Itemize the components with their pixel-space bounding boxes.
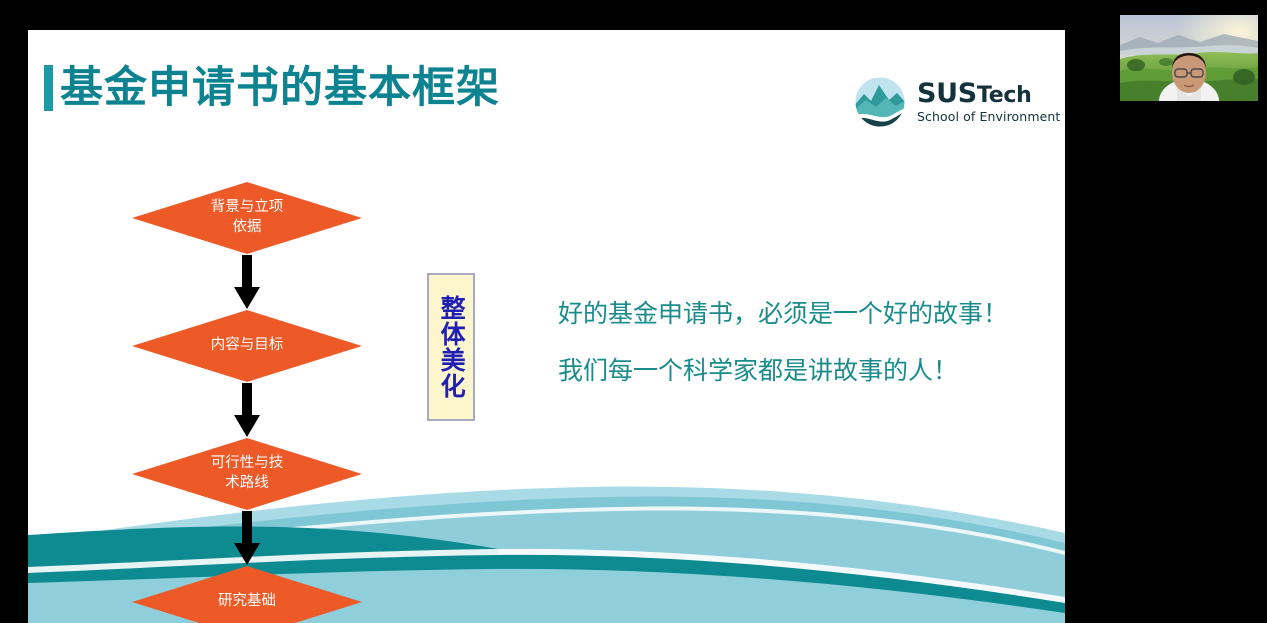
sustech-logo: SUSTech School of Environment — [854, 76, 1060, 128]
down-arrow-icon — [234, 511, 260, 565]
flow-node-research-basis[interactable]: 研究基础 — [132, 566, 362, 623]
logo-name: SUSTech — [917, 80, 1060, 108]
flow-node-content[interactable]: 内容与目标 — [132, 310, 362, 382]
flow-node-label: 背景与立项 依据 — [132, 182, 362, 254]
presenter-video-frame — [1120, 15, 1258, 101]
beautify-note-text: 整体美化 — [437, 295, 465, 399]
down-arrow-icon — [234, 255, 260, 309]
slide-title-text: 基金申请书的基本框架 — [60, 67, 500, 110]
logo-name-tech: Tech — [977, 83, 1032, 108]
flow-node-feasibility[interactable]: 可行性与技 术路线 — [132, 438, 362, 510]
logo-tagline: School of Environment — [917, 110, 1060, 124]
flow-node-background[interactable]: 背景与立项 依据 — [132, 182, 362, 254]
presentation-slide[interactable]: 基金申请书的基本框架 SUSTech School of Environment — [28, 30, 1065, 623]
flow-arrow-1 — [132, 254, 362, 310]
beautify-note-box: 整体美化 — [427, 273, 475, 421]
statement-line: 我们每一个科学家都是讲故事的人！ — [558, 355, 1028, 386]
statement-line: 好的基金申请书，必须是一个好的故事！ — [558, 298, 1028, 329]
sustech-mountain-wave-icon — [854, 76, 906, 128]
flow-chart: 背景与立项 依据 内容与目标 可行性与技 术路线 研 — [132, 182, 362, 623]
flow-node-label: 内容与目标 — [132, 310, 362, 382]
flow-arrow-3 — [132, 510, 362, 566]
title-accent-bar — [44, 65, 53, 111]
down-arrow-icon — [234, 383, 260, 437]
video-tree-cluster-right — [1233, 69, 1255, 85]
flow-arrow-2 — [132, 382, 362, 438]
flow-node-label: 研究基础 — [132, 566, 362, 623]
presenter-video-thumbnail[interactable] — [1120, 15, 1258, 101]
flow-node-label: 可行性与技 术路线 — [132, 438, 362, 510]
video-tree-cluster-mid — [1159, 58, 1173, 66]
slide-title: 基金申请书的基本框架 — [44, 65, 500, 111]
video-tree-cluster-left — [1127, 59, 1145, 71]
logo-name-main: SUS — [917, 78, 977, 109]
logo-wordmark: SUSTech School of Environment — [917, 80, 1060, 123]
statements-block: 好的基金申请书，必须是一个好的故事！ 我们每一个科学家都是讲故事的人！ — [558, 298, 1028, 387]
